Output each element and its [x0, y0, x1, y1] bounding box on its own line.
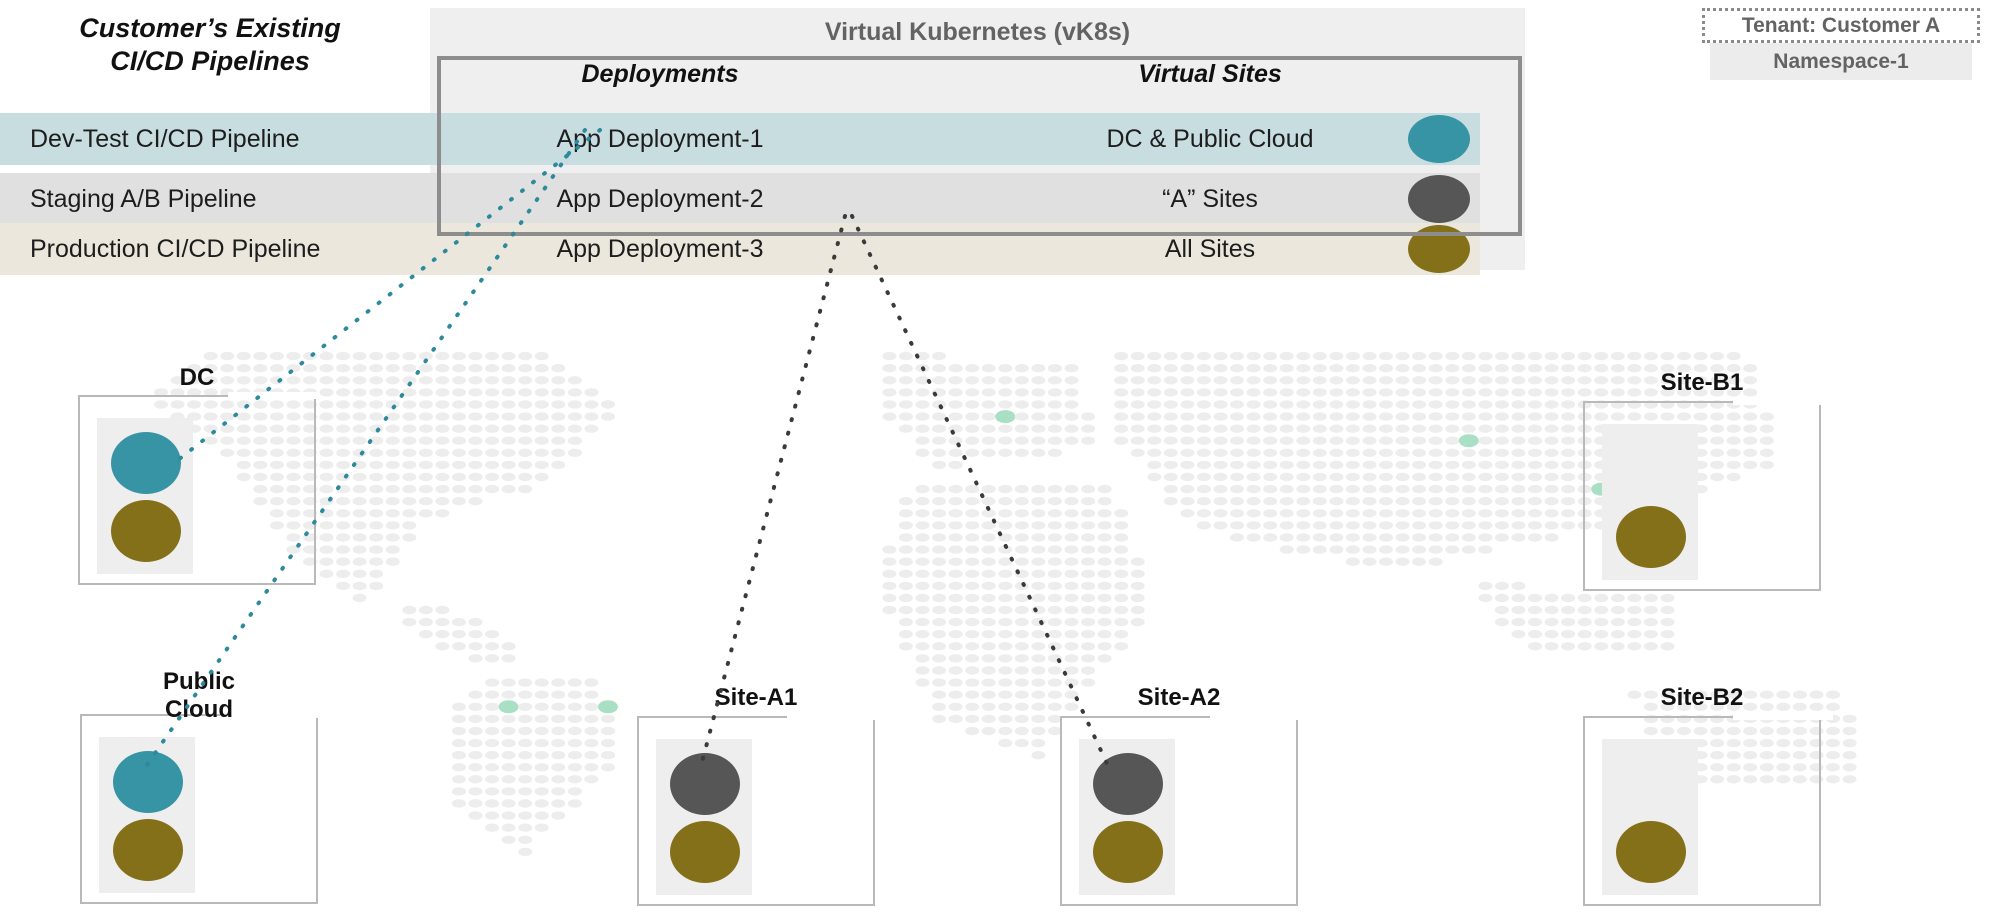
pipeline-label: Dev-Test CI/CD Pipeline — [0, 125, 300, 154]
tenant-badge: Tenant: Customer A — [1702, 8, 1980, 43]
namespace-badge: Namespace-1 — [1710, 43, 1972, 80]
pipeline-label: Production CI/CD Pipeline — [0, 235, 320, 264]
column-header-virtual-sites: Virtual Sites — [1040, 60, 1380, 89]
column-header-deployments: Deployments — [490, 60, 830, 89]
vk8s-title: Virtual Kubernetes (vK8s) — [430, 18, 1525, 47]
deployment-status-dot — [1408, 115, 1470, 163]
deployment-name: App Deployment-1 — [490, 113, 830, 165]
pipeline-label: Staging A/B Pipeline — [0, 185, 257, 214]
left-panel-title-line2: CI/CD Pipelines — [30, 45, 390, 78]
pipeline-row[interactable]: Production CI/CD Pipeline — [0, 223, 470, 275]
virtual-site-name: All Sites — [1040, 223, 1380, 275]
pipeline-row[interactable]: Staging A/B Pipeline — [0, 173, 470, 225]
left-panel-title: Customer’s Existing CI/CD Pipelines — [30, 12, 390, 78]
deployment-status-dot — [1408, 175, 1470, 223]
virtual-site-name: “A” Sites — [1040, 173, 1380, 225]
pipeline-row[interactable]: Dev-Test CI/CD Pipeline — [0, 113, 470, 165]
deployment-name: App Deployment-3 — [490, 223, 830, 275]
virtual-site-name: DC & Public Cloud — [1040, 113, 1380, 165]
deployment-name: App Deployment-2 — [490, 173, 830, 225]
world-map-background — [0, 330, 1999, 914]
deployment-status-dot — [1408, 225, 1470, 273]
left-panel-title-line1: Customer’s Existing — [30, 12, 390, 45]
